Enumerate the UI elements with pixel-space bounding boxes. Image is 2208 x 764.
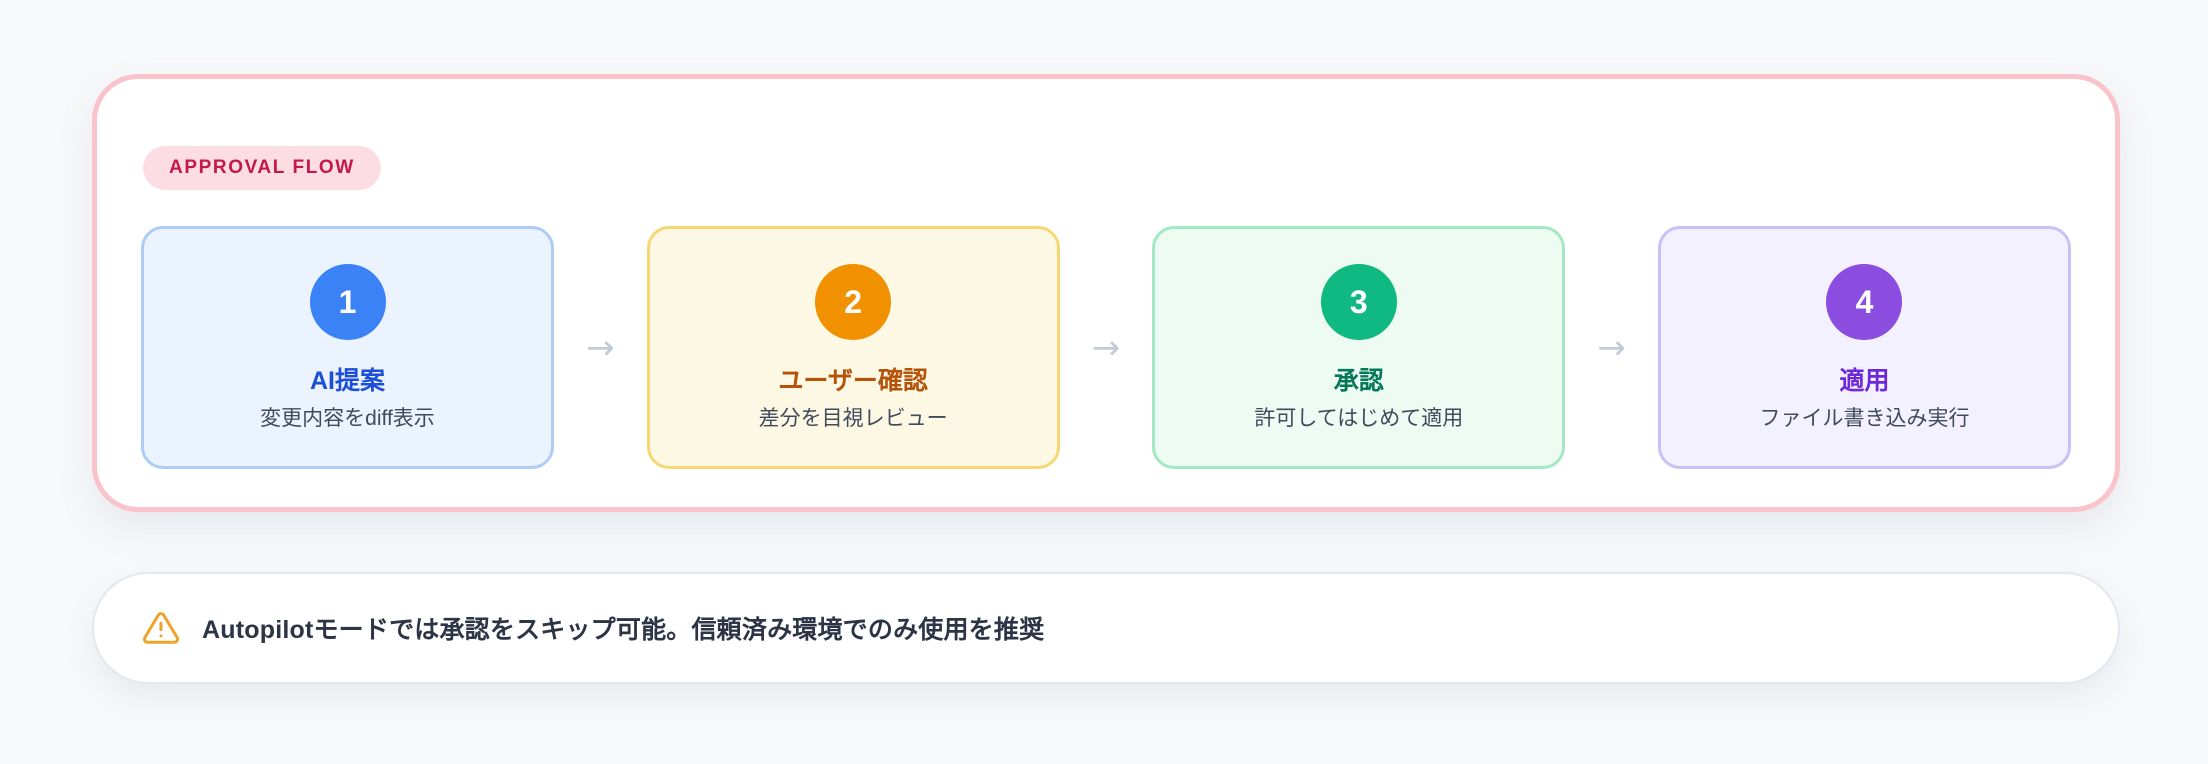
step-title-1: AI提案 [310,366,385,396]
warning-triangle-icon [142,609,180,647]
arrow-right-icon-2: → [1077,331,1135,365]
autopilot-note-bar: Autopilotモードでは承認をスキップ可能。信頼済み環境でのみ使用を推奨 [92,572,2120,684]
step-description-3: 許可してはじめて適用 [1254,406,1463,431]
step-description-2: 差分を目視レビュー [759,406,948,431]
step-card-1[interactable]: 1 AI提案 変更内容をdiff表示 [141,226,554,469]
step-title-4: 適用 [1839,366,1889,396]
step-number-2: 2 [844,286,862,318]
step-number-1: 1 [339,286,357,318]
approval-flow-badge: APPROVAL FLOW [143,146,381,190]
step-number-badge-1: 1 [310,264,386,340]
approval-flow-page: APPROVAL FLOW 1 AI提案 変更内容をdiff表示 → 2 ユーザ… [0,0,2208,764]
approval-flow-panel: APPROVAL FLOW 1 AI提案 変更内容をdiff表示 → 2 ユーザ… [92,74,2120,512]
step-card-4[interactable]: 4 適用 ファイル書き込み実行 [1658,226,2071,469]
step-card-3[interactable]: 3 承認 許可してはじめて適用 [1152,226,1565,469]
approval-flow-badge-label: APPROVAL FLOW [169,157,355,179]
arrow-right-icon-3: → [1583,331,1641,365]
steps-row: 1 AI提案 変更内容をdiff表示 → 2 ユーザー確認 差分を目視レビュー … [141,226,2071,469]
step-number-badge-2: 2 [815,264,891,340]
step-description-4: ファイル書き込み実行 [1759,406,1969,431]
step-number-4: 4 [1856,286,1874,318]
autopilot-note-text: Autopilotモードでは承認をスキップ可能。信頼済み環境でのみ使用を推奨 [202,610,1044,646]
step-number-badge-3: 3 [1321,264,1397,340]
step-description-1: 変更内容をdiff表示 [260,406,435,431]
step-number-badge-4: 4 [1826,264,1902,340]
step-card-2[interactable]: 2 ユーザー確認 差分を目視レビュー [647,226,1060,469]
step-title-3: 承認 [1334,366,1384,396]
step-title-2: ユーザー確認 [778,366,928,396]
step-number-3: 3 [1350,286,1368,318]
arrow-right-icon-1: → [571,331,629,365]
